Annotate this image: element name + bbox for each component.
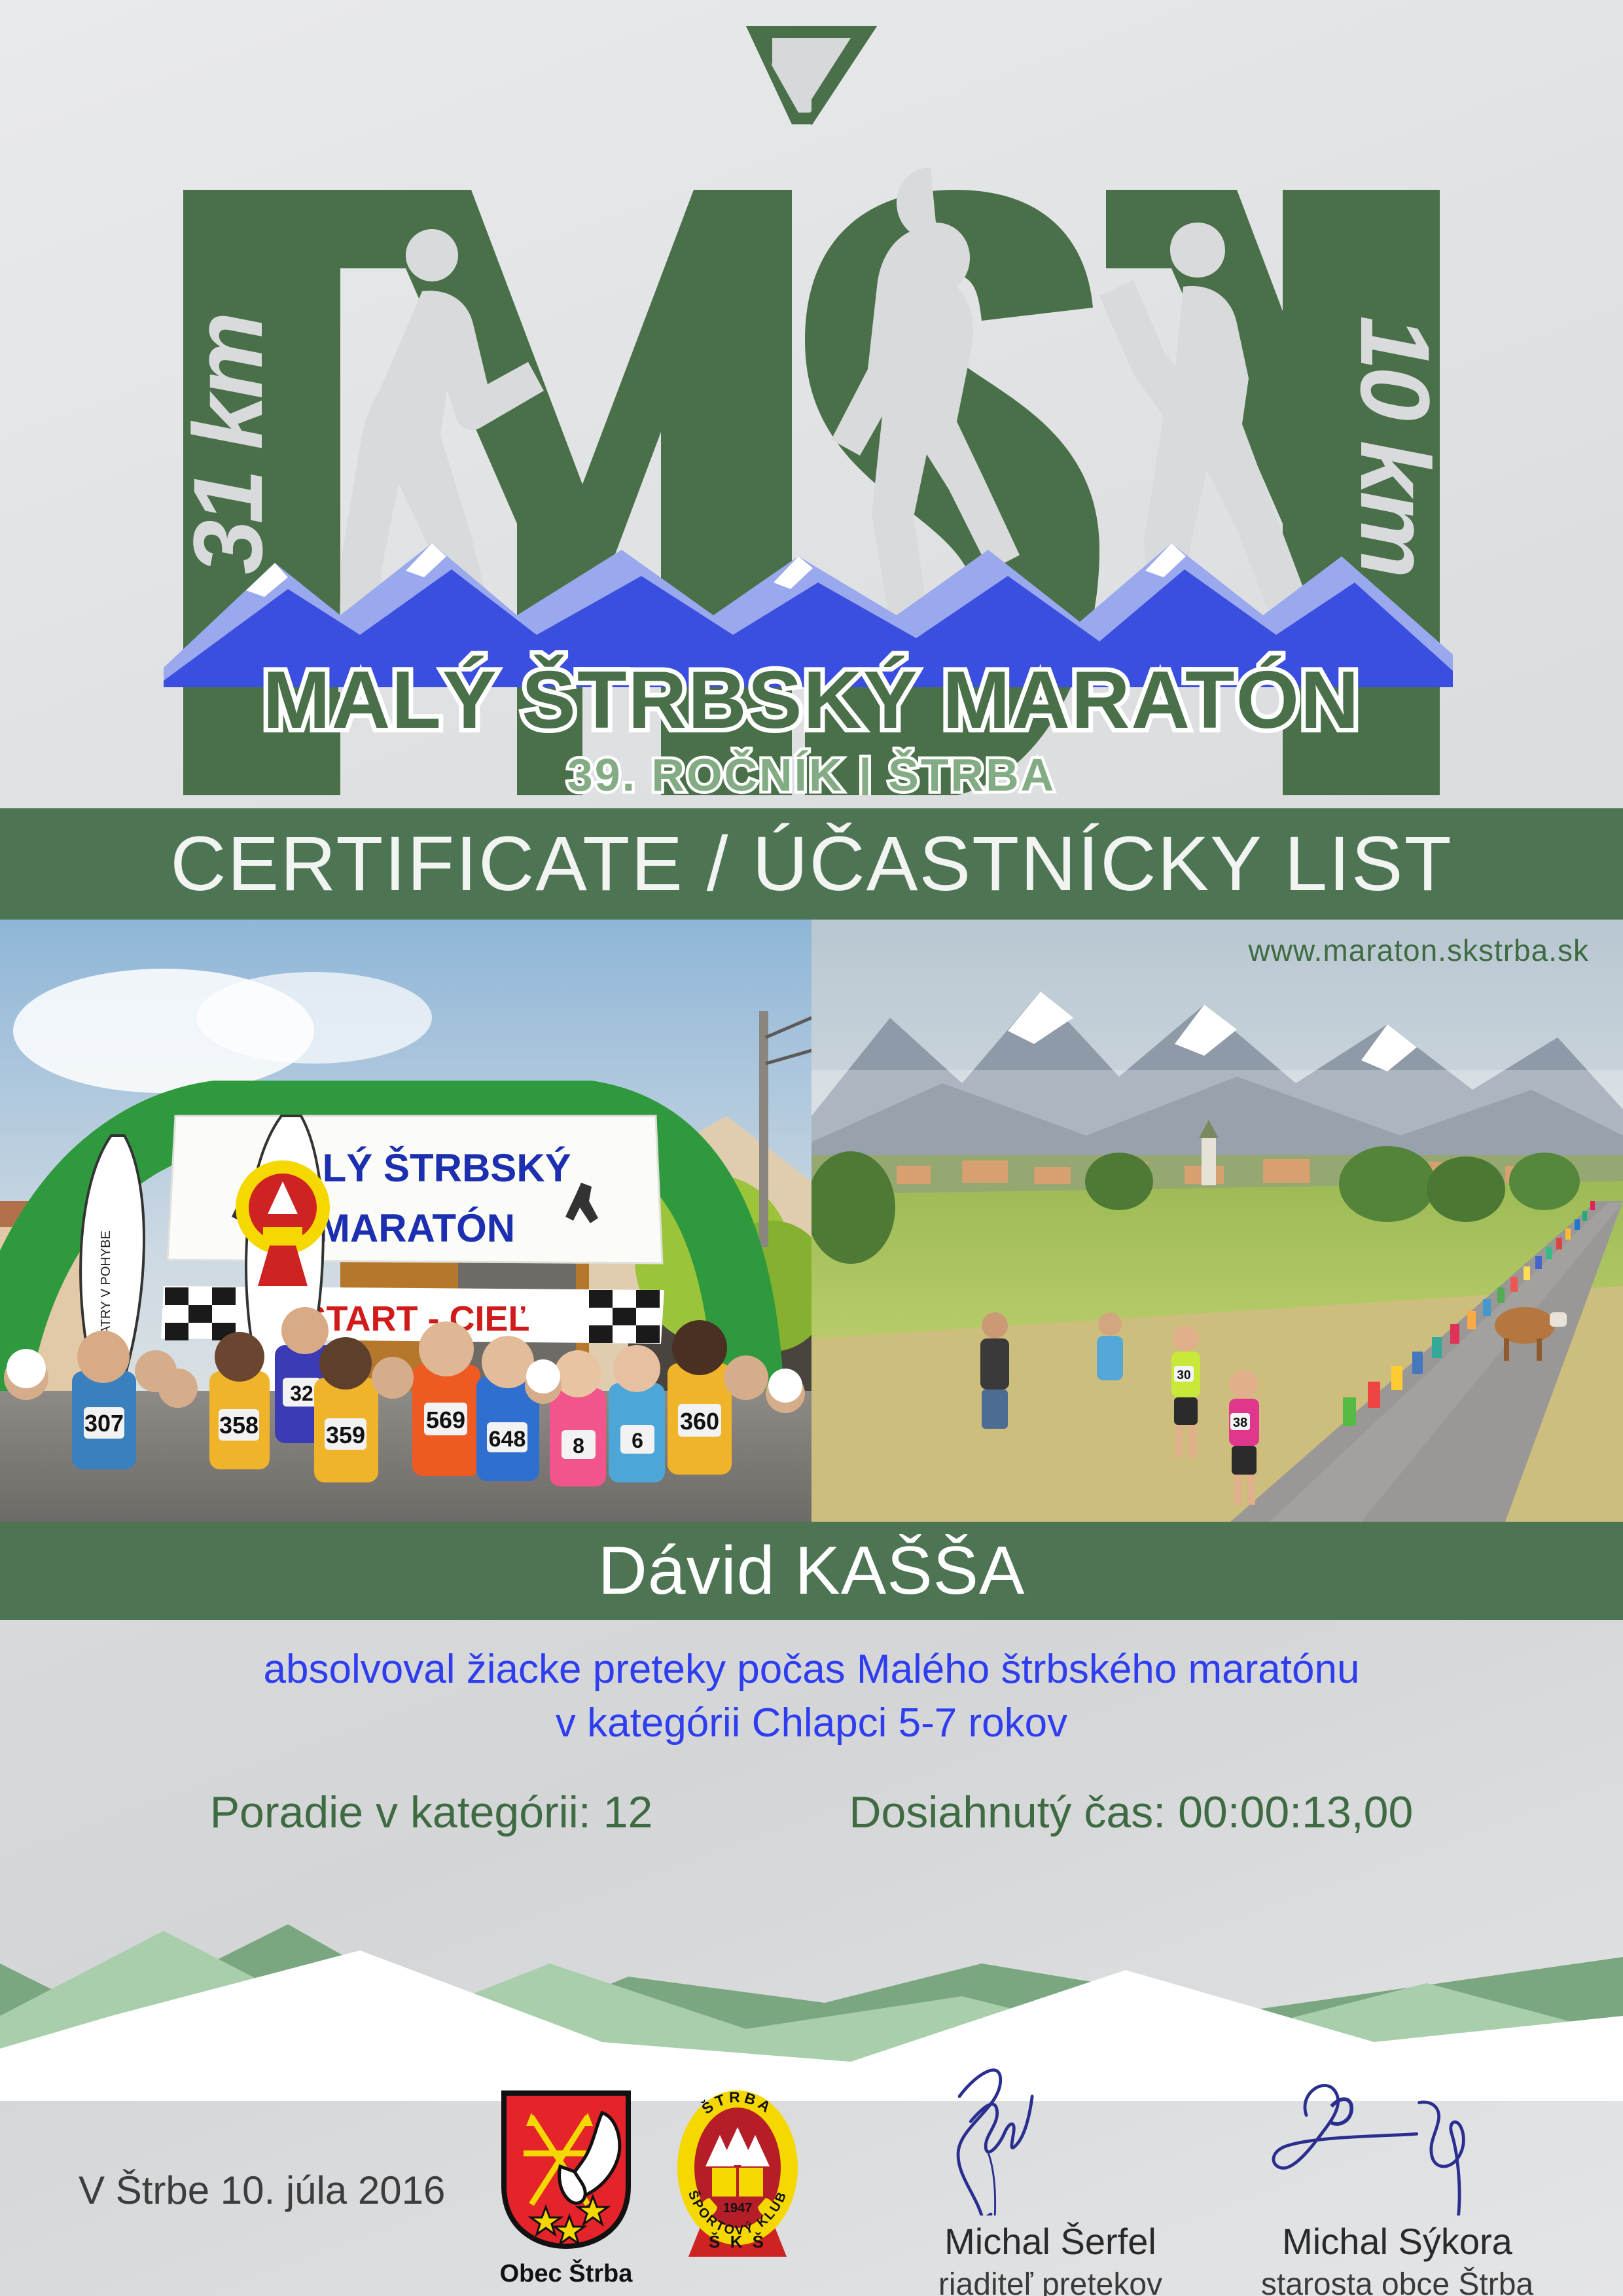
signatory-name: Michal Šerfel — [877, 2220, 1224, 2263]
photo-start-line: MALÝ ŠTRBSKÝ MARATÓN ŠTART - CIEĽ — [0, 920, 811, 1522]
website-url: www.maraton.skstrba.sk — [1249, 933, 1589, 968]
bib-number: 32 — [290, 1382, 313, 1405]
bib-number: 8 — [573, 1434, 584, 1458]
msm-logo-svg: 31 km 10 km MALÝ ŠTRBSKÝ MARATÓN — [124, 26, 1499, 795]
page-title: CERTIFICATE / ÚČASTNÍCKY LIST — [170, 819, 1452, 908]
certificate-page: 31 km 10 km MALÝ ŠTRBSKÝ MARATÓN — [0, 0, 1623, 2296]
logo-distance-right: 10 km — [1340, 315, 1450, 575]
issue-date: V Štrbe 10. júla 2016 — [79, 2168, 445, 2213]
description-line-2: v kategórii Chlapci 5-7 rokov — [0, 1696, 1623, 1750]
description-line-1: absolvoval žiacke preteky počas Malého š… — [0, 1643, 1623, 1696]
crest-sks-year: 1947 — [723, 2201, 753, 2215]
event-name-text: MALÝ ŠTRBSKÝ MARATÓN — [262, 655, 1360, 745]
crest-obec-svg — [497, 2088, 635, 2251]
flag-tatry-text: TATRY V POHYBE — [99, 1230, 113, 1342]
time-value: 00:00:13,00 — [1178, 1787, 1413, 1837]
bib-number: 569 — [426, 1407, 465, 1433]
signature-block-director: Michal Šerfel riaditeľ pretekov — [877, 2068, 1224, 2296]
rank-label: Poradie v kategórii: — [210, 1787, 591, 1837]
bib-number: 38 — [1233, 1416, 1247, 1430]
signatory-name: Michal Sýkora — [1224, 2220, 1571, 2263]
crest-obec-strba: Obec Štrba — [497, 2088, 635, 2288]
signature-group: Michal Šerfel riaditeľ pretekov Michal S… — [877, 2068, 1571, 2296]
participant-description: absolvoval žiacke preteky počas Malého š… — [0, 1643, 1623, 1750]
event-logo-header: 31 km 10 km MALÝ ŠTRBSKÝ MARATÓN — [0, 0, 1623, 795]
certificate-title-band: CERTIFICATE / ÚČASTNÍCKY LIST — [0, 808, 1623, 920]
photo-start-line-svg: MALÝ ŠTRBSKÝ MARATÓN ŠTART - CIEĽ — [0, 920, 811, 1522]
time-group: Dosiahnutý čas: 00:00:13,00 — [849, 1787, 1413, 1838]
crest-obec-label: Obec Štrba — [497, 2260, 635, 2288]
crest-sks-svg: 1947 ŠTRBA ŠPORTOVÝ KLUB Š K Š — [669, 2088, 806, 2258]
signatory-role: starosta obce Štrba — [1224, 2267, 1571, 2296]
crest-group: Obec Štrba 1947 — [497, 2088, 806, 2288]
signature-serfel-ink — [877, 2065, 1224, 2215]
logo-distance-right-text: 10 km — [1340, 315, 1450, 575]
photo-countryside-road: 38 30 — [811, 920, 1623, 1522]
msm-logo: 31 km 10 km MALÝ ŠTRBSKÝ MARATÓN — [0, 0, 1623, 795]
signature-block-mayor: Michal Sýkora starosta obce Štrba — [1224, 2068, 1571, 2296]
crest-sks-bottom-text: Š K Š — [709, 2232, 766, 2251]
start-finish-banner: ŠTART - CIEĽ — [303, 1299, 530, 1338]
bib-number: 358 — [219, 1412, 259, 1439]
bib-number: 6 — [632, 1429, 643, 1452]
results-row: Poradie v kategórii: 12 Dosiahnutý čas: … — [0, 1787, 1623, 1838]
logo-distance-left-text: 31 km — [173, 315, 283, 575]
bib-number: 360 — [680, 1408, 719, 1435]
photo-countryside-svg: 38 30 — [811, 920, 1623, 1522]
crest-sks-strba: 1947 ŠTRBA ŠPORTOVÝ KLUB Š K Š — [669, 2088, 806, 2261]
photo-strip: MALÝ ŠTRBSKÝ MARATÓN ŠTART - CIEĽ — [0, 920, 1623, 1522]
bib-number: 30 — [1177, 1369, 1190, 1382]
certificate-footer: V Štrbe 10. júla 2016 — [0, 2062, 1623, 2296]
signatory-role: riaditeľ pretekov — [877, 2267, 1224, 2296]
bib-number: 648 — [489, 1427, 526, 1452]
participant-name: Dávid KAŠŠA — [598, 1532, 1026, 1610]
participant-name-band: Dávid KAŠŠA — [0, 1522, 1623, 1620]
bib-number: 307 — [84, 1410, 124, 1437]
bib-number: 359 — [326, 1422, 365, 1448]
rank-group: Poradie v kategórii: 12 — [210, 1787, 653, 1838]
signature-sykora-ink — [1224, 2065, 1571, 2215]
arch-banner-line2: MARATÓN — [317, 1206, 515, 1250]
event-edition-text: 39. ROČNÍK | ŠTRBA — [567, 749, 1056, 795]
rank-value: 12 — [603, 1787, 653, 1837]
logo-distance-left: 31 km — [173, 315, 283, 575]
time-label: Dosiahnutý čas: — [849, 1787, 1166, 1837]
